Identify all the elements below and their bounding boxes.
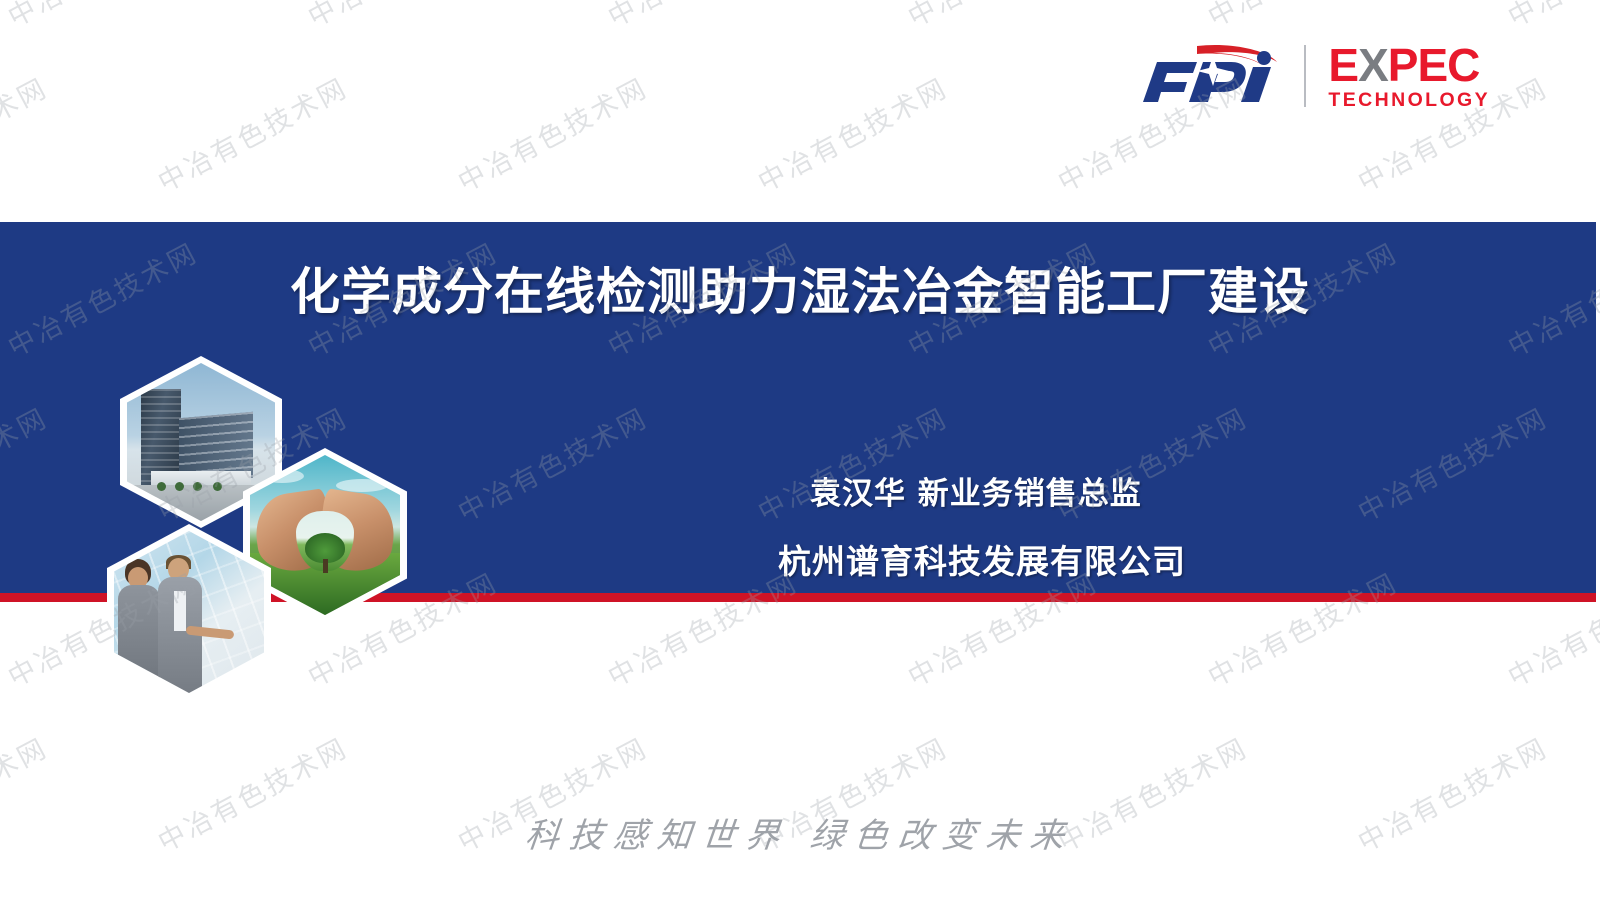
- business-handshake-image: [114, 531, 264, 693]
- expec-letter-x: X: [1358, 39, 1388, 91]
- watermark-text: 中冶有色技术网: [300, 891, 504, 900]
- page-title: 化学成分在线检测助力湿法冶金智能工厂建设: [0, 252, 1600, 324]
- expec-subtitle: TECHNOLOGY: [1328, 91, 1490, 111]
- watermark-text: 中冶有色技术网: [900, 891, 1104, 900]
- expec-wordmark: EXPEC: [1328, 42, 1490, 88]
- logo-bar: EXPEC TECHNOLOGY: [0, 0, 1600, 222]
- presentation-slide: EXPEC TECHNOLOGY 化学成分在线检测助力湿法冶金智能工厂建设 袁汉…: [0, 0, 1600, 900]
- expec-logo: EXPEC TECHNOLOGY: [1328, 42, 1490, 111]
- logo-divider: [1304, 45, 1306, 107]
- presenter-name-role: 袁汉华 新业务销售总监: [810, 468, 1460, 513]
- hexagon-photo-cluster: [95, 328, 435, 688]
- watermark-text: 中冶有色技术网: [1200, 891, 1404, 900]
- expec-letter-e: E: [1328, 39, 1358, 91]
- hexagon-inner-people: [114, 531, 264, 693]
- watermark-text: 中冶有色技术网: [0, 891, 204, 900]
- fpi-logo-icon: [1127, 40, 1282, 112]
- hands-heart-tree-image: [250, 455, 400, 615]
- expec-letters-pec: PEC: [1388, 39, 1480, 91]
- watermark-text: 中冶有色技术网: [600, 891, 804, 900]
- hexagon-inner-heart: [250, 455, 400, 615]
- watermark-text: 中冶有色技术网: [1500, 891, 1600, 900]
- logo-group: EXPEC TECHNOLOGY: [1127, 40, 1490, 112]
- company-tagline: 科技感知世界 绿色改变未来: [0, 808, 1600, 857]
- presenter-block: 袁汉华 新业务销售总监 杭州谱育科技发展有限公司: [700, 468, 1460, 583]
- presenter-company: 杭州谱育科技发展有限公司: [778, 535, 1460, 583]
